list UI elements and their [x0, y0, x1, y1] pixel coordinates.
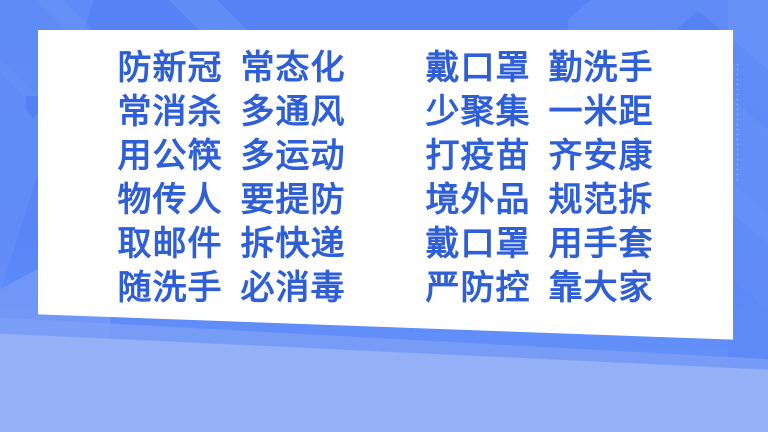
slogan-segment: 一米距	[549, 91, 654, 133]
slogan-column-left: 防新冠 常态化 常消杀 多通风 用公筷 多运动 物传人 要提防	[118, 47, 346, 309]
slogan-segment: 常消杀	[118, 91, 223, 133]
slogan-segment: 戴口罩	[426, 223, 531, 265]
slogan-line: 防新冠 常态化	[118, 47, 346, 89]
slogan-segment: 少聚集	[426, 91, 531, 133]
slogan-segment: 规范拆	[549, 179, 654, 221]
slogan-segment: 多运动	[241, 135, 346, 177]
slogan-segment: 用公筷	[118, 135, 223, 177]
slogan-segment: 取邮件	[118, 223, 223, 265]
slogan-card-inner: 防新冠 常态化 常消杀 多通风 用公筷 多运动 物传人 要提防	[38, 30, 733, 346]
slogan-segment: 物传人	[118, 179, 223, 221]
slogan-segment: 戴口罩	[426, 47, 531, 89]
slogan-line: 境外品 规范拆	[426, 179, 654, 221]
slogan-line: 戴口罩 用手套	[426, 223, 654, 265]
slogan-line: 少聚集 一米距	[426, 91, 654, 133]
poster-canvas: 防新冠 常态化 常消杀 多通风 用公筷 多运动 物传人 要提防	[0, 0, 768, 432]
slogan-segment: 严防控	[426, 267, 531, 309]
slogan-segment: 要提防	[241, 179, 346, 221]
slogan-card: 防新冠 常态化 常消杀 多通风 用公筷 多运动 物传人 要提防	[38, 30, 733, 346]
slogan-segment: 拆快递	[241, 223, 346, 265]
slogan-column-right: 戴口罩 勤洗手 少聚集 一米距 打疫苗 齐安康 境外品 规范拆	[426, 47, 654, 309]
slogan-segment: 必消毒	[241, 267, 346, 309]
slogan-segment: 靠大家	[549, 267, 654, 309]
slogan-segment: 常态化	[241, 47, 346, 89]
slogan-segment: 多通风	[241, 91, 346, 133]
slogan-line: 取邮件 拆快递	[118, 223, 346, 265]
slogan-line: 戴口罩 勤洗手	[426, 47, 654, 89]
slogan-line: 物传人 要提防	[118, 179, 346, 221]
slogan-segment: 勤洗手	[549, 47, 654, 89]
slogan-segment: 用手套	[549, 223, 654, 265]
slogan-segment: 随洗手	[118, 267, 223, 309]
slogan-segment: 齐安康	[549, 135, 654, 177]
slogan-line: 打疫苗 齐安康	[426, 135, 654, 177]
slogan-segment: 打疫苗	[426, 135, 531, 177]
slogan-line: 严防控 靠大家	[426, 267, 654, 309]
slogan-segment: 境外品	[426, 179, 531, 221]
slogan-line: 用公筷 多运动	[118, 135, 346, 177]
slogan-line: 随洗手 必消毒	[118, 267, 346, 309]
slogan-grid: 防新冠 常态化 常消杀 多通风 用公筷 多运动 物传人 要提防	[118, 47, 654, 309]
slogan-segment: 防新冠	[118, 47, 223, 89]
slogan-line: 常消杀 多通风	[118, 91, 346, 133]
